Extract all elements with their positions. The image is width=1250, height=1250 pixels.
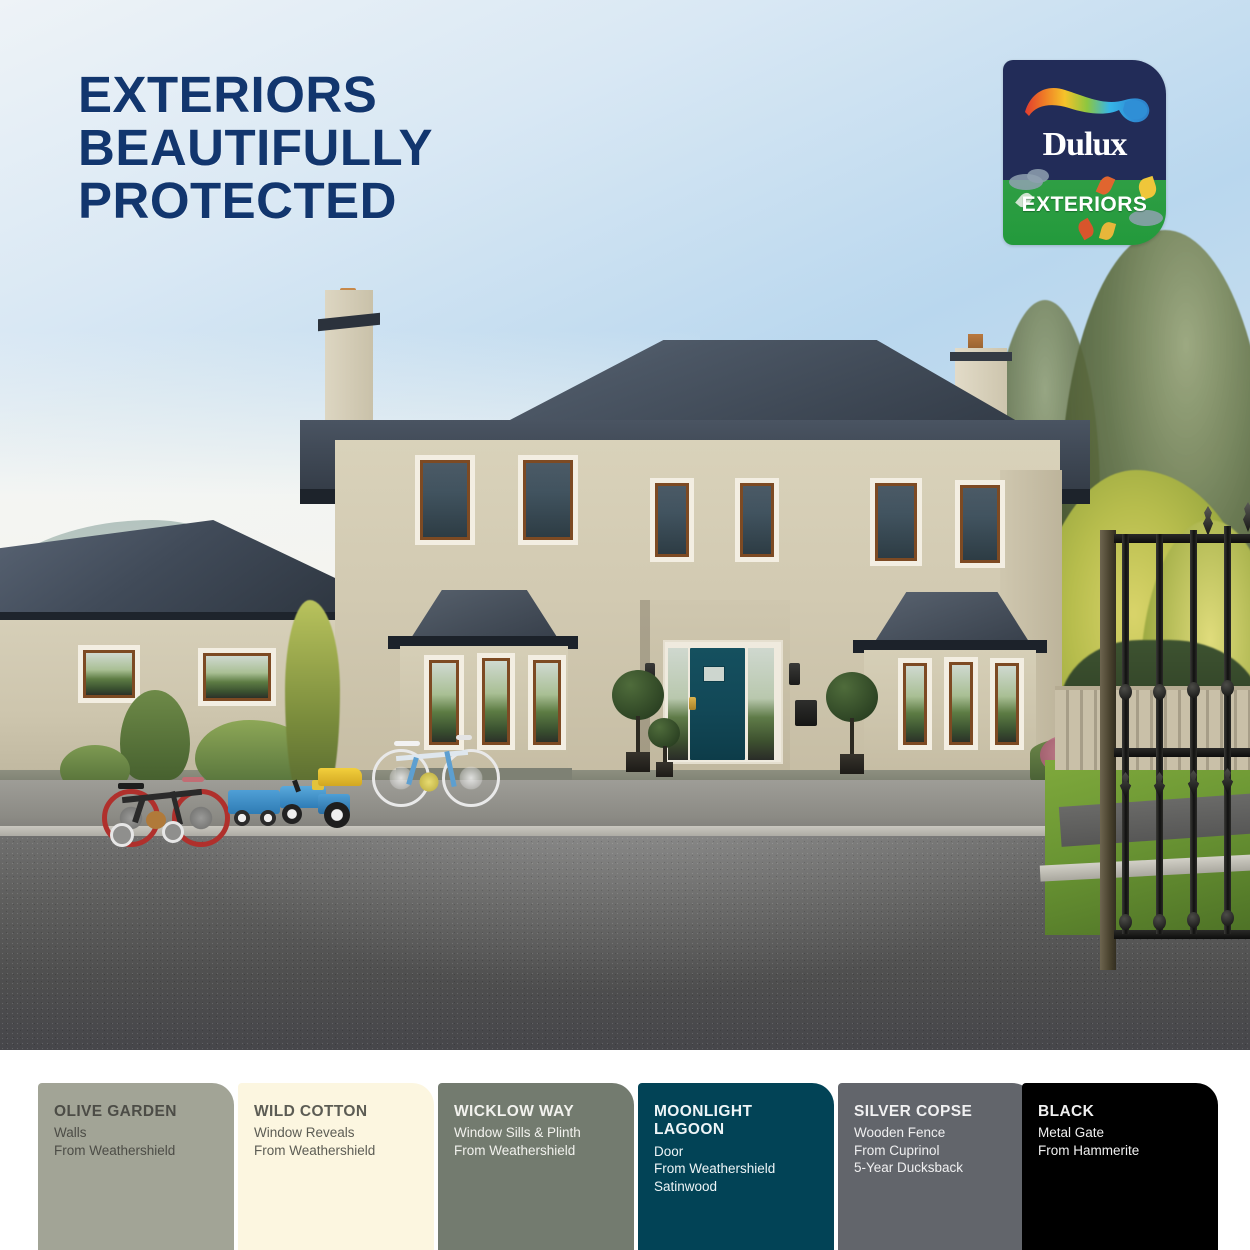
wing-window-2 xyxy=(198,648,276,706)
front-door xyxy=(690,648,745,760)
gate-bar-1 xyxy=(1122,534,1129,934)
swatch-detail-1: Metal Gate xyxy=(1038,1124,1202,1142)
topiary-small-left xyxy=(648,718,682,780)
gate-fleur-4 xyxy=(1220,768,1235,794)
bay-left-window-3 xyxy=(528,655,566,750)
swatch-wild-cotton[interactable]: WILD COTTON Window Reveals From Weathers… xyxy=(238,1083,434,1250)
post-box xyxy=(795,700,817,726)
gate-bar-3 xyxy=(1190,530,1197,934)
gate-bar-4 xyxy=(1224,526,1231,934)
swatch-detail-1: Window Sills & Plinth xyxy=(454,1124,618,1142)
swatch-detail-1: Door xyxy=(654,1143,818,1161)
swatch-silver-copse[interactable]: SILVER COPSE Wooden Fence From Cuprinol … xyxy=(838,1083,1034,1250)
leaf-icon-3 xyxy=(1075,218,1096,241)
gate-fleur-1 xyxy=(1118,772,1133,798)
window-upper-5 xyxy=(870,478,922,566)
swatch-wicklow-way[interactable]: WICKLOW WAY Window Sills & Plinth From W… xyxy=(438,1083,634,1250)
poster-root: EXTERIORS BEAUTIFULLY PROTECTED xyxy=(0,0,1250,1250)
window-upper-3 xyxy=(650,478,694,562)
gate-knob-3 xyxy=(1187,682,1200,698)
swatch-detail-2: From Weathershield xyxy=(54,1142,218,1160)
cloud-icon-2 xyxy=(1027,169,1049,183)
gate-finial-2 xyxy=(1241,502,1250,532)
gate-knob-1 xyxy=(1119,684,1132,700)
yellow-toy-digger-bucket xyxy=(318,762,366,792)
swatch-detail-2: From Weathershield xyxy=(654,1160,818,1178)
gate-bar-2 xyxy=(1156,534,1163,934)
gate-knob-2 xyxy=(1153,684,1166,700)
swatch-name: MOONLIGHT LAGOON xyxy=(654,1103,818,1140)
dulux-swoosh-icon xyxy=(1021,82,1153,130)
window-upper-6 xyxy=(955,480,1005,568)
door-glass-panel xyxy=(703,666,725,682)
colour-swatch-bar: OLIVE GARDEN Walls From Weathershield WI… xyxy=(0,1050,1250,1250)
swatch-detail-1: Wooden Fence xyxy=(854,1124,1018,1142)
swatch-name: OLIVE GARDEN xyxy=(54,1103,218,1121)
swatch-name: WICKLOW WAY xyxy=(454,1103,618,1121)
metal-gate xyxy=(1100,500,1250,970)
leaf-icon-4 xyxy=(1099,221,1116,242)
window-upper-1 xyxy=(415,455,475,545)
gate-knob-4 xyxy=(1221,680,1234,696)
dulux-exteriors-logo[interactable]: Dulux EXTERIORS xyxy=(1003,60,1166,245)
gate-knob-7 xyxy=(1187,912,1200,928)
topiary-right xyxy=(826,672,882,778)
logo-brand-wordmark: Dulux xyxy=(1003,126,1166,164)
gate-fleur-3 xyxy=(1186,770,1201,796)
gate-finial-1 xyxy=(1201,506,1215,536)
bay-right-window-3 xyxy=(990,658,1024,750)
swatch-moonlight-lagoon[interactable]: MOONLIGHT LAGOON Door From Weathershield… xyxy=(638,1083,834,1250)
gate-knob-6 xyxy=(1153,914,1166,930)
bay-right-window-2 xyxy=(944,657,978,750)
headline-line-3: PROTECTED xyxy=(78,174,433,227)
swatch-name: SILVER COPSE xyxy=(854,1103,1018,1121)
swatch-black[interactable]: BLACK Metal Gate From Hammerite xyxy=(1022,1083,1218,1250)
headline: EXTERIORS BEAUTIFULLY PROTECTED xyxy=(78,68,433,227)
headline-line-2: BEAUTIFULLY xyxy=(78,121,433,174)
porch-lantern-right xyxy=(789,663,800,685)
gate-knob-8 xyxy=(1221,910,1234,926)
swatch-detail-2: From Cuprinol xyxy=(854,1142,1018,1160)
door-handle xyxy=(689,697,696,710)
swatch-detail-2: From Hammerite xyxy=(1038,1142,1202,1160)
swatch-name: BLACK xyxy=(1038,1103,1202,1121)
headline-line-1: EXTERIORS xyxy=(78,68,433,121)
swatch-detail-2: From Weathershield xyxy=(454,1142,618,1160)
swatch-olive-garden[interactable]: OLIVE GARDEN Walls From Weathershield xyxy=(38,1083,234,1250)
bay-right-window-1 xyxy=(898,658,932,750)
chimney-cap-right xyxy=(950,352,1012,361)
logo-range-wordmark: EXTERIORS xyxy=(1003,193,1166,217)
swatch-detail-2: From Weathershield xyxy=(254,1142,418,1160)
gate-knob-5 xyxy=(1119,914,1132,930)
road-bike xyxy=(372,735,500,805)
swatch-detail-1: Walls xyxy=(54,1124,218,1142)
swatch-detail-1: Window Reveals xyxy=(254,1124,418,1142)
door-sidelight-right xyxy=(748,648,774,760)
swatch-detail-3: 5-Year Ducksback xyxy=(854,1159,1018,1177)
swatch-name: WILD COTTON xyxy=(254,1103,418,1121)
window-upper-4 xyxy=(735,478,779,562)
wing-window-1 xyxy=(78,645,140,703)
childrens-bike xyxy=(100,775,225,840)
swatch-detail-3: Satinwood xyxy=(654,1178,818,1196)
window-upper-2 xyxy=(518,455,578,545)
toy-trailer xyxy=(228,790,282,832)
gate-fleur-2 xyxy=(1152,772,1167,798)
